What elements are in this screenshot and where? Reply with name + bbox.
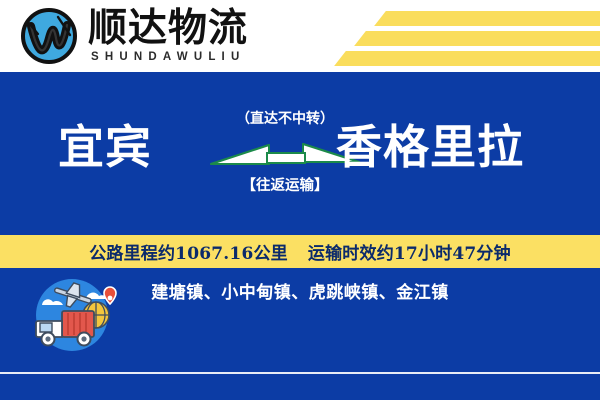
logistics-truck-plane-globe-icon <box>26 277 118 353</box>
route-info-bar: 公路里程约1067.16公里运输时效约17小时47分钟 <box>0 235 600 268</box>
brand-logo-block: 顺达物流 SHUNDAWULIU <box>18 4 248 68</box>
route-row: 宜宾 （直达不中转） 【往返运输】 香格里拉 <box>0 100 600 230</box>
footer-divider <box>0 372 600 374</box>
decor-stripe <box>374 11 600 26</box>
brand-name-cn: 顺达物流 <box>88 9 248 49</box>
route-origin-city: 宜宾 <box>58 122 152 173</box>
brand-text-block: 顺达物流 SHUNDAWULIU <box>88 9 248 63</box>
route-destination-city: 香格里拉 <box>336 122 524 173</box>
route-distance-text: 公路里程约1067.16公里 <box>89 244 288 264</box>
route-info-text: 公路里程约1067.16公里运输时效约17小时47分钟 <box>89 239 511 264</box>
swoosh-circle-logo-icon <box>18 5 80 67</box>
roundtrip-service-note: 【往返运输】 <box>205 174 365 195</box>
logistics-route-banner: 顺达物流 SHUNDAWULIU 宜宾 （直达不中转） <box>0 0 600 400</box>
decor-stripe <box>334 51 600 66</box>
banner-header: 顺达物流 SHUNDAWULIU <box>0 0 600 72</box>
decor-stripe <box>354 31 600 46</box>
brand-name-en: SHUNDAWULIU <box>91 51 248 63</box>
banner-body: 宜宾 （直达不中转） 【往返运输】 香格里拉 <box>0 72 600 400</box>
route-duration-text: 运输时效约17小时47分钟 <box>308 244 511 264</box>
served-towns-row: 建塘镇、小中甸镇、虎跳峡镇、金江镇 <box>0 272 600 358</box>
served-towns-text: 建塘镇、小中甸镇、虎跳峡镇、金江镇 <box>130 278 470 303</box>
